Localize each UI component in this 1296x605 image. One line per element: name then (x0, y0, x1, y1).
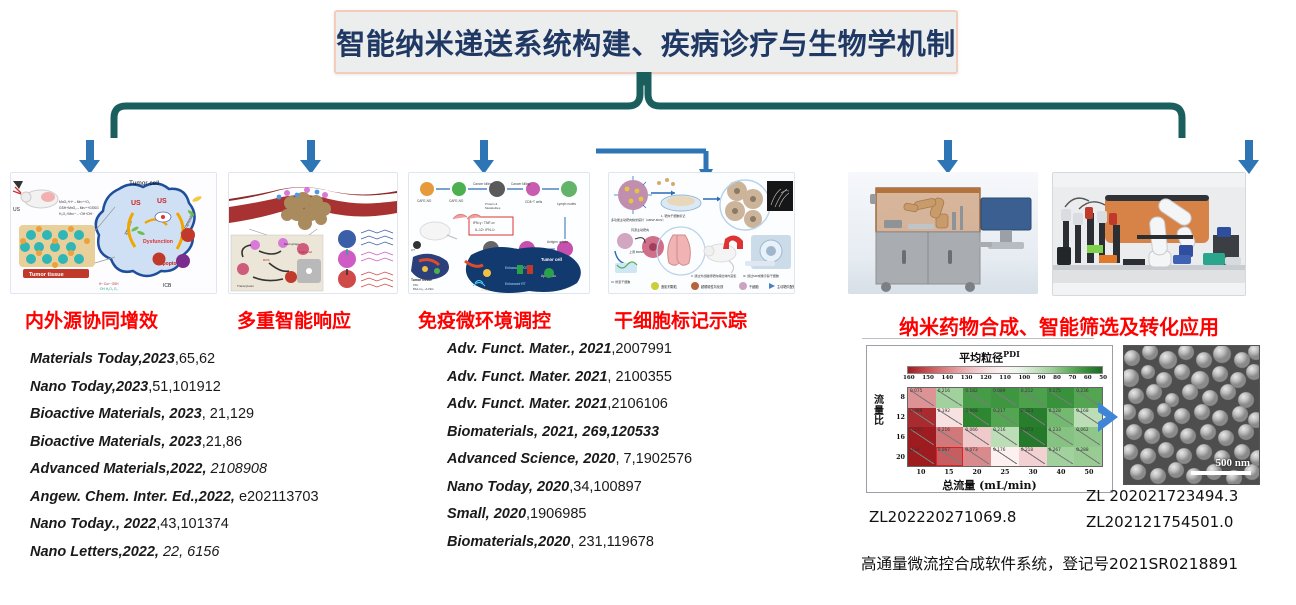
reference-detail: ,51,101912 (148, 379, 221, 395)
patent-number-left: ZL202220271069.8 (869, 508, 1016, 526)
reference-year: , 2020 (575, 451, 615, 467)
reference-detail: , 7,1902576 (615, 451, 692, 467)
patent-number-right-top: ZL 202021723494.3 (1086, 487, 1238, 505)
heatmap-cell: 0.068 (963, 408, 991, 428)
heatmap-cell: 0.089 (991, 388, 1019, 408)
heatmap-cell-value: 0.066 (965, 428, 977, 433)
svg-text:US: US (131, 200, 141, 207)
sem-scale-label: 500 nm (1215, 457, 1250, 469)
reference-detail: 22, 6156 (159, 544, 219, 560)
reference-journal: Adv. Funct. Mater. (447, 396, 571, 412)
chart-title-text: 平均粒径 (959, 352, 1003, 365)
svg-text:Antigen uptake: Antigen uptake (547, 240, 568, 244)
svg-text:H₂O₂+Mn²⁺→·OH+OH⁻: H₂O₂+Mn²⁺→·OH+OH⁻ (59, 212, 94, 216)
svg-text:X-ray: X-ray (481, 288, 489, 292)
reference-year: 2021 (571, 369, 607, 385)
colorbar-tick: 120 (980, 375, 992, 385)
heatmap-cell: 0.128 (1047, 408, 1075, 428)
svg-text:Dysfunction: Dysfunction (143, 239, 173, 245)
heatmap-cell-value: 0.288 (1076, 448, 1088, 453)
heatmap-cell-value: 0.182 (965, 389, 977, 394)
reference-detail: ,2007991 (611, 341, 671, 357)
svg-text:Tumor cell: Tumor cell (541, 257, 562, 262)
figure-stem-cell-tracking-image: 多功能主动靶向纳米探针（ABSP-BCN） 1. 靶向干细胞标记 (608, 172, 795, 294)
reference-list-left: Materials Today,2023,65,62 Nano Today,20… (30, 352, 450, 559)
chart-title: 平均粒径PDI (867, 349, 1112, 366)
reference-year: 2023 (116, 379, 148, 395)
chart-yaxis: 8 12 16 20 (891, 387, 905, 467)
colorbar-tick: 110 (999, 375, 1011, 385)
reference-detail: , 21,129 (202, 406, 254, 422)
patent-number-right-bottom: ZL202121754501.0 (1086, 513, 1233, 531)
heatmap-cell: 0.176 (991, 447, 1019, 467)
reference-item: Adv. Funct. Mater. 2021,2106106 (447, 397, 787, 412)
svg-text:Lymph nodes: Lymph nodes (557, 202, 576, 206)
reference-item: Advanced Science, 2020, 7,1902576 (447, 452, 787, 467)
reference-detail: e202113703 (235, 489, 319, 505)
reference-item: Angew. Chem. Inter. Ed.,2022, e202113703 (30, 490, 450, 505)
heatmap-cell: 0.073 (963, 447, 991, 467)
heatmap-cell: 0.182 (963, 388, 991, 408)
heatmap-cell-value: 0.218 (1021, 448, 1033, 453)
svg-text:Macrophage: Macrophage (284, 242, 300, 246)
reference-year: 2021 (571, 396, 607, 412)
section-label-endo-exo: 内外源协同增效 (25, 306, 158, 333)
reference-journal: Biomaterials, (447, 534, 538, 550)
reference-year: , 2023 (161, 406, 201, 422)
reference-year: 2021, (538, 424, 578, 440)
y-tick: 16 (896, 433, 905, 441)
svg-text:ROS: ROS (263, 258, 270, 262)
reference-year: 2021 (575, 341, 611, 357)
heatmap-cell-value: 0.067 (938, 448, 950, 453)
heatmap-cell-value: 0.062 (1076, 428, 1088, 433)
reference-journal: Biomaterials, (447, 424, 538, 440)
reference-detail: ,34,100897 (569, 479, 642, 495)
heatmap-cell: 0.218 (1019, 447, 1047, 467)
heatmap-cell-value: 0.14 (910, 448, 920, 453)
heatmap-cell-value: 0.212 (1021, 389, 1033, 394)
heatmap-cell-value: 0.075 (910, 389, 922, 394)
svg-text:1. 靶向干细胞标记: 1. 靶向干细胞标记 (661, 213, 685, 218)
colorbar-tick: 80 (1053, 375, 1061, 385)
figure-panel-stem-cell-tracking: 多功能主动靶向纳米探针（ABSP-BCN） 1. 靶向干细胞标记 (608, 172, 793, 292)
svg-text:PFH: PFH (413, 283, 418, 287)
svg-text:IFN-γ↑ TNF-α↑: IFN-γ↑ TNF-α↑ (473, 221, 496, 225)
svg-text:Foam cell: Foam cell (299, 250, 312, 254)
heatmap-cell-value: 0.216 (993, 428, 1005, 433)
svg-text:干细胞: 干细胞 (749, 284, 759, 289)
heatmap-cell-value: 0.233 (1049, 428, 1061, 433)
reference-journal: Bioactive Materials (30, 434, 161, 450)
heatmap-cell: 0.212 (1019, 388, 1047, 408)
heatmap-cell-value: 0.217 (993, 409, 1005, 414)
reference-item: Biomaterials, 2021, 269,120533 (447, 425, 787, 440)
heatmap-cell-value: 0.089 (993, 389, 1005, 394)
reference-year: 2022, (170, 461, 206, 477)
reference-year: 2023 (143, 351, 175, 367)
slide-title-box: 智能纳米递送系统构建、疾病诊疗与生物学机制 (334, 10, 958, 74)
svg-text:III. 通过MR成像示踪干细胞: III. 通过MR成像示踪干细胞 (743, 273, 779, 278)
svg-text:Transcytosis: Transcytosis (237, 284, 254, 288)
reference-item: Advanced Materials,2022, 2108908 (30, 462, 450, 477)
y-tick: 20 (896, 453, 905, 461)
chart-ylabel: 流量比 (871, 396, 887, 428)
reference-detail: , 2100355 (607, 369, 672, 385)
figure-nano-synthesis-photo-image (1052, 172, 1246, 296)
reference-item: Adv. Funct. Mater. 2021, 2100355 (447, 370, 787, 385)
arrow-down-panel-6 (1238, 140, 1260, 174)
heatmap-cell: 0.192 (936, 408, 964, 428)
reference-detail: ,1906985 (526, 506, 586, 522)
colorbar-tick: 140 (942, 375, 954, 385)
svg-text:IL-12↑ IFN-1↑: IL-12↑ IFN-1↑ (475, 228, 496, 232)
heatmap-cell: 0.067 (936, 447, 964, 467)
reference-item: Adv. Funct. Mater., 2021,2007991 (447, 342, 787, 357)
x-tick: 30 (1029, 468, 1038, 476)
reference-item: Materials Today,2023,65,62 (30, 352, 450, 367)
heatmap-cell: 0.073 (1019, 427, 1047, 447)
reference-detail: ,65,62 (175, 351, 215, 367)
sem-scale-bar (1191, 471, 1251, 475)
reference-year: , 2023 (161, 434, 201, 450)
section-label-nano-synthesis: 纳米药物合成、智能筛选及转化应用 (899, 311, 1219, 340)
slide-root: 智能纳米递送系统构建、疾病诊疗与生物学机制 (0, 0, 1296, 605)
section-label-immune-microenv: 免疫微环境调控 (418, 306, 551, 333)
colorbar-tick: 50 (1099, 375, 1107, 385)
svg-text:H⁺ Cu²⁺ GSH: H⁺ Cu²⁺ GSH (99, 282, 119, 286)
svg-text:Tumor tissue: Tumor tissue (411, 278, 432, 282)
reference-year: 2022, (123, 544, 159, 560)
svg-text:上调 BDNF: 上调 BDNF (629, 249, 644, 254)
arrow-right-to-sem-icon (1096, 400, 1122, 434)
x-tick: 15 (945, 468, 954, 476)
reference-detail: 269,120533 (578, 424, 659, 440)
svg-text:造影剂颗粒: 造影剂颗粒 (661, 284, 678, 289)
arrow-down-panel-5 (937, 140, 959, 174)
chart-colorbar-ticks: 160 150 140 130 120 110 100 90 80 70 60 … (903, 375, 1107, 385)
heatmap-cell: 0.075 (908, 388, 936, 408)
x-tick: 50 (1085, 468, 1094, 476)
svg-text:GSH+MnO₂→Mn²⁺+GSSG: GSH+MnO₂→Mn²⁺+GSSG (59, 206, 99, 210)
svg-text:CD8⁺T cells: CD8⁺T cells (525, 200, 543, 204)
reference-year: , 2022 (116, 516, 156, 532)
figure-panel-endo-exo: US MnO₂+H⁺→Mn²⁺+O₂ GSH+MnO₂→Mn²⁺+GSSG H₂… (10, 172, 215, 292)
svg-text:Cancer killing: Cancer killing (511, 182, 530, 186)
reference-year: , 2020 (529, 479, 569, 495)
x-tick: 25 (1001, 468, 1010, 476)
heatmap-cell-value: 0.073 (1021, 428, 1033, 433)
svg-text:MnO₂+H⁺→Mn²⁺+O₂: MnO₂+H⁺→Mn²⁺+O₂ (59, 200, 91, 204)
heatmap-cell-value: 0.168 (1076, 409, 1088, 414)
arrow-down-panel-2 (300, 140, 322, 174)
figure-multi-responsive-image: Transcytosis ROS Foam cell Macrophage (228, 172, 398, 294)
heatmap-cell: 0.137 (908, 427, 936, 447)
heatmap-cell: 0.267 (1047, 447, 1075, 467)
heatmap-cell-value: 0.073 (965, 448, 977, 453)
heatmap-cell-value: 0.128 (1049, 409, 1061, 414)
svg-text:多功能主动靶向纳米探针（ABSP-BCN）: 多功能主动靶向纳米探针（ABSP-BCN） (611, 217, 665, 222)
section-label-multi-responsive: 多重智能响应 (237, 306, 351, 333)
heatmap-cell: 0.216 (936, 427, 964, 447)
colorbar-tick: 70 (1068, 375, 1076, 385)
colorbar-tick: 130 (961, 375, 973, 385)
reference-item: Nano Today, 2020,34,100897 (447, 480, 787, 495)
heatmap-cell: 0.216 (936, 388, 964, 408)
reference-journal: Small, (447, 506, 490, 522)
heatmap-cell: 0.233 (1047, 427, 1075, 447)
reference-year: 2020 (538, 534, 570, 550)
heatmap-cell-value: 0.068 (965, 409, 977, 414)
heatmap-cell: 0.175 (1047, 388, 1075, 408)
svg-text:超顺磁性氧化铁: 超顺磁性氧化铁 (701, 284, 724, 289)
heatmap-cell-value: 0.267 (1049, 448, 1061, 453)
svg-text:Tumor cell: Tumor cell (129, 180, 160, 187)
arrow-down-panel-1 (79, 140, 101, 174)
svg-text:Cancer killing: Cancer killing (473, 182, 492, 186)
chart-annotation-pdi: PDI (1003, 349, 1020, 359)
svg-text:Tumor tissue: Tumor tissue (29, 272, 64, 278)
svg-text:CT: CT (411, 248, 415, 252)
figure-panel-nano-synthesis-cad (848, 172, 1038, 294)
colorbar-tick: 160 (903, 375, 915, 385)
y-tick: 12 (896, 413, 905, 421)
reference-journal: Nano Today, (30, 379, 116, 395)
svg-text:US: US (13, 207, 21, 213)
software-registration-text: 高通量微流控合成软件系统，登记号2021SR0218891 (861, 552, 1238, 574)
heatmap-cell: 0.066 (963, 427, 991, 447)
x-tick: 10 (917, 468, 926, 476)
svg-text:同源主动靶向: 同源主动靶向 (631, 227, 649, 232)
heatmap-cell-value: 0.216 (938, 428, 950, 433)
svg-text:IV. 修复干细胞: IV. 修复干细胞 (611, 279, 630, 284)
reference-item: Nano Today., 2022,43,101374 (30, 517, 450, 532)
svg-text:CAFE-NG: CAFE-NG (449, 199, 464, 203)
figure-immune-microenv-image: CAFE-NG CAFE-NG Cancer killing Cancer ki… (408, 172, 590, 294)
colorbar-tick: 100 (1019, 375, 1031, 385)
reference-journal: Materials Today, (30, 351, 143, 367)
svg-text:Enhanced RT: Enhanced RT (505, 282, 526, 286)
x-tick: 20 (973, 468, 982, 476)
section-label-stem-cell-tracking: 干细胞标记示踪 (614, 306, 747, 333)
chart-xaxis: 10 15 20 25 30 40 50 (907, 468, 1103, 476)
svg-text:II. 通过外加磁场靶向病灶体内富集: II. 通过外加磁场靶向病灶体内富集 (691, 273, 736, 278)
heatmap-cell-value: 0.175 (1049, 389, 1061, 394)
reference-item: Nano Today,2023,51,101912 (30, 380, 450, 395)
svg-text:ICB: ICB (163, 283, 172, 289)
heatmap-chart: 平均粒径PDI 160 150 140 130 120 110 100 90 8… (866, 345, 1113, 493)
svg-text:US: US (157, 198, 167, 205)
reference-item: Bioactive Materials, 2023,21,86 (30, 435, 450, 450)
reference-year: ,2022, (195, 489, 235, 505)
figure-panel-multi-responsive: Transcytosis ROS Foam cell Macrophage (228, 172, 396, 292)
reference-item: Bioactive Materials, 2023, 21,129 (30, 407, 450, 422)
heatmap-cell-value: 0.137 (910, 428, 922, 433)
figure-endo-exo-image: US MnO₂+H⁺→Mn²⁺+O₂ GSH+MnO₂→Mn²⁺+GSSG H₂… (10, 172, 217, 294)
svg-text:CAFE-NG: CAFE-NG (417, 199, 432, 203)
reference-journal: Adv. Funct. Mater., (447, 341, 575, 357)
reference-item: Biomaterials,2020, 231,119678 (447, 535, 787, 550)
svg-text:·OH H₂O₂ O₂: ·OH H₂O₂ O₂ (99, 287, 118, 291)
arrow-down-panel-3 (473, 140, 495, 174)
page-title: 智能纳米递送系统构建、疾病诊疗与生物学机制 (336, 21, 956, 63)
heatmap-cell: 0.14 (908, 447, 936, 467)
reference-item: Small, 2020,1906985 (447, 507, 787, 522)
x-tick: 40 (1057, 468, 1066, 476)
chart-xlabel: 总流量 (mL/min) (867, 477, 1112, 493)
colorbar-tick: 60 (1084, 375, 1092, 385)
heatmap-cell: 0.313 (1019, 408, 1047, 428)
svg-text:BSA-Cu₂₋ₓS-PEG: BSA-Cu₂₋ₓS-PEG (413, 287, 434, 291)
reference-item: Nano Letters,2022, 22, 6156 (30, 545, 450, 560)
colorbar-tick: 150 (922, 375, 934, 385)
figure-panel-immune-microenv: CAFE-NG CAFE-NG Cancer killing Cancer ki… (408, 172, 588, 292)
heatmap-cell-value: 0.313 (1021, 409, 1033, 414)
reference-journal: Bioactive Materials (30, 406, 161, 422)
heatmap-cell: 0.216 (991, 427, 1019, 447)
heatmap-cell: 0.288 (1074, 447, 1102, 467)
reference-detail: ,21,86 (202, 434, 242, 450)
heatmap-cell-value: 0.192 (938, 409, 950, 414)
chart-colorbar (907, 366, 1103, 374)
figure-panel-nano-synthesis-photo (1052, 172, 1244, 294)
reference-detail: , 231,119678 (570, 534, 654, 550)
svg-text:Metabolites: Metabolites (485, 206, 501, 210)
y-tick: 8 (901, 393, 905, 401)
nano-section-divider (862, 338, 1094, 339)
bracket-connector (108, 72, 1188, 144)
reference-journal: Angew. Chem. Inter. Ed. (30, 489, 195, 505)
reference-journal: Nano Today (447, 479, 529, 495)
reference-detail: ,43,101374 (156, 516, 229, 532)
reference-journal: Nano Letters, (30, 544, 123, 560)
reference-list-right: Adv. Funct. Mater., 2021,2007991 Adv. Fu… (447, 342, 787, 549)
reference-detail: 2108908 (207, 461, 267, 477)
figure-nano-synthesis-cad-image (848, 172, 1038, 294)
heatmap-cell: 0.217 (991, 408, 1019, 428)
reference-detail: ,2106106 (607, 396, 667, 412)
reference-journal: Advanced Materials, (30, 461, 170, 477)
svg-text:主动靶向配基: 主动靶向配基 (777, 284, 794, 289)
reference-journal: Nano Today. (30, 516, 116, 532)
heatmap-cell-value: 0.176 (993, 448, 1005, 453)
heatmap-cell-value: 0.088 (910, 409, 922, 414)
sem-image: 500 nm (1123, 345, 1260, 485)
reference-journal: Adv. Funct. Mater. (447, 369, 571, 385)
svg-text:Enhanced PDT: Enhanced PDT (505, 266, 528, 270)
reference-journal: Advanced Science (447, 451, 575, 467)
heatmap-cell-value: 0.216 (938, 389, 950, 394)
colorbar-tick: 90 (1038, 375, 1046, 385)
chart-cell-grid: 0.0750.2160.1820.0890.2120.1750.2360.088… (907, 387, 1103, 467)
heatmap-cell-value: 0.236 (1076, 389, 1088, 394)
reference-year: 2020 (490, 506, 526, 522)
heatmap-cell: 0.088 (908, 408, 936, 428)
